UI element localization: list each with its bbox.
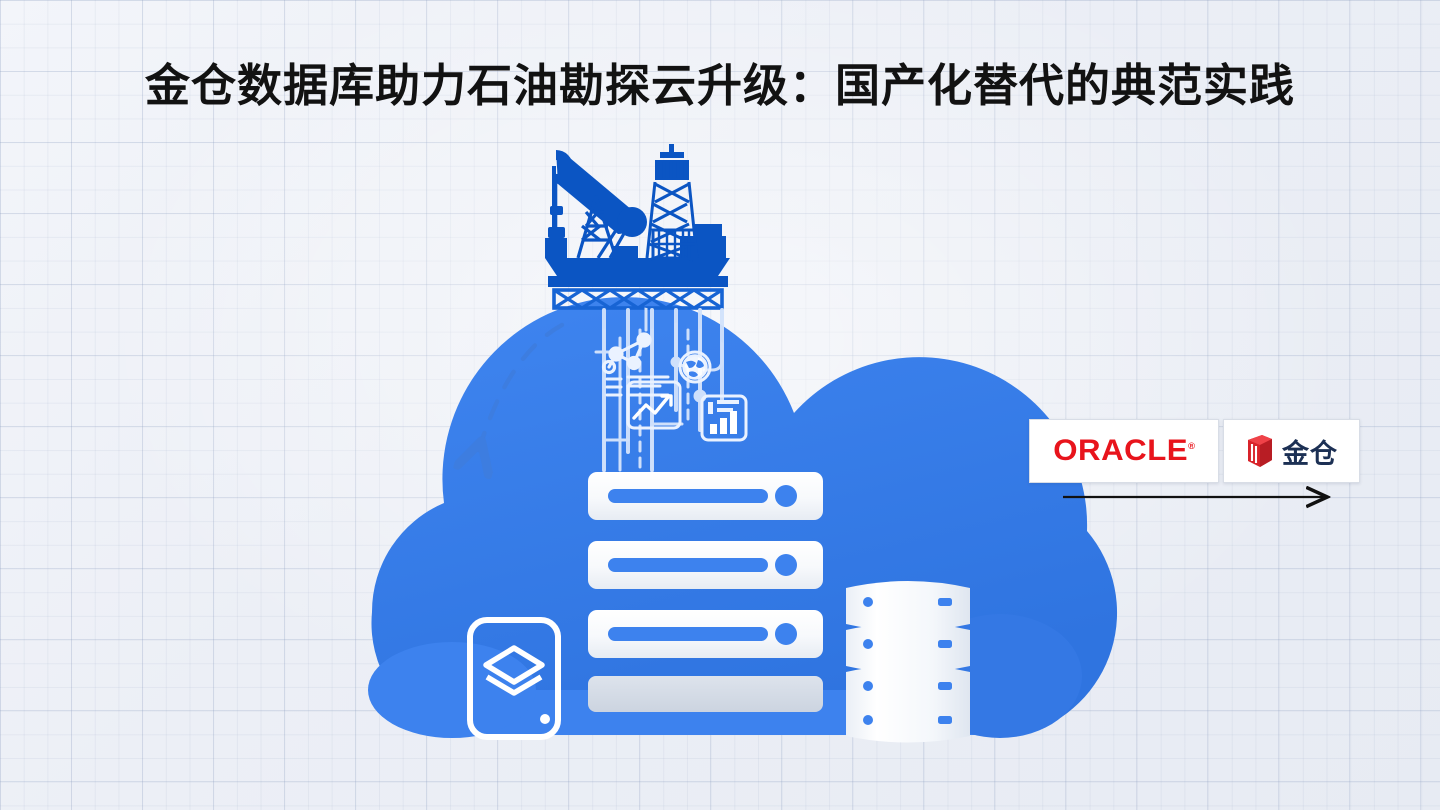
server-rack-4-dimmed [588,676,823,712]
kingbase-logo[interactable]: 金仓 [1223,419,1360,483]
derrick-tower [647,144,697,260]
slide-canvas: 金仓数据库助力石油勘探云升级：国产化替代的典范实践 [0,0,1440,810]
database-disks [846,581,970,743]
oracle-logo[interactable]: ORACLE® [1029,419,1219,483]
kingbase-book-icon [1245,434,1275,468]
rig-deck-top [545,258,730,276]
rig-deck-band [548,276,728,287]
migration-logo-row: ORACLE® 金仓 [1029,419,1360,483]
pumpjack [545,150,647,258]
db-disc-4 [846,699,970,743]
server-rack-1 [588,472,823,520]
rig-block-b [694,224,722,240]
globe-icon [680,352,710,382]
offshore-oil-rig [545,144,730,308]
server-rack-3 [588,610,823,658]
oracle-logo-text: ORACLE® [1053,434,1195,468]
server-rack-2 [588,541,823,589]
kingbase-logo-text: 金仓 [1282,432,1338,471]
rig-housing [612,246,638,258]
illustration-canvas [0,0,1440,810]
